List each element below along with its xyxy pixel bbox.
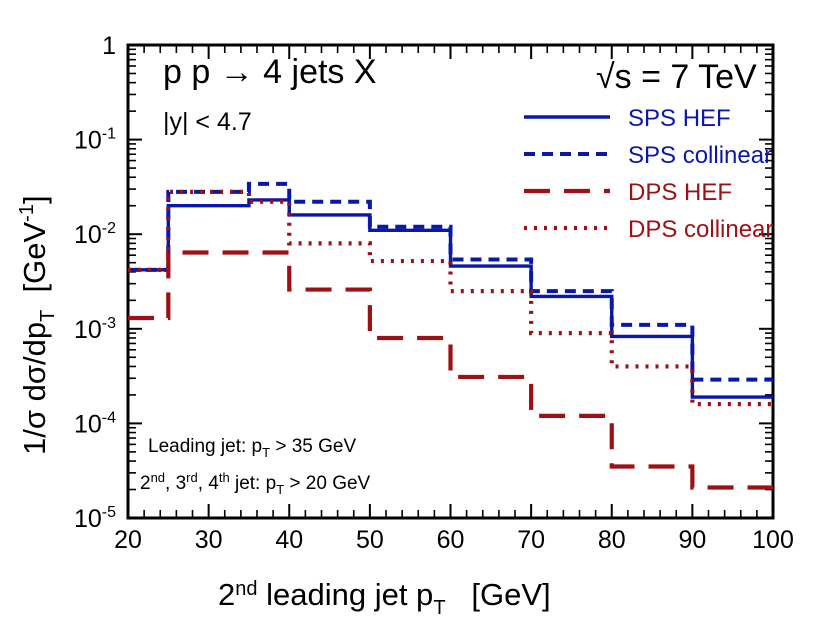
legend-label-dps-collinear: DPS collinear (628, 216, 773, 243)
process-title: p p → 4 jets X (163, 53, 377, 91)
x-tick-label: 90 (678, 526, 706, 554)
legend-label-sps-collinear: SPS collinear (628, 142, 772, 169)
x-tick-label: 70 (517, 526, 545, 554)
other-jets-cut-s3: th (219, 470, 230, 485)
x-tick-labels: 2030405060708090100 (114, 526, 794, 554)
x-tick-label: 40 (275, 526, 303, 554)
physics-plot: 2030405060708090100 110-110-210-310-410-… (0, 0, 830, 637)
other-jets-cut-s1: nd (151, 470, 165, 485)
legend-label-dps-hef: DPS HEF (628, 179, 732, 206)
x-tick-label: 50 (356, 526, 384, 554)
leading-jet-cut: Leading jet: pT > 35 GeV (148, 436, 356, 460)
x-axis-title-sup: nd (235, 578, 257, 600)
rapidity-cut-annotation: |y| < 4.7 (163, 108, 252, 136)
y-axis-title-unit-end: ] (17, 195, 52, 204)
legend-label-sps-hef: SPS HEF (628, 105, 731, 132)
other-jets-cut-p2: , 3 (165, 473, 186, 494)
other-jets-cut-p4: jet: p (230, 473, 276, 494)
figure-root: 2030405060708090100 110-110-210-310-410-… (0, 0, 830, 637)
y-tick-label: 1 (102, 32, 116, 60)
x-axis-title-pre: 2 (218, 577, 235, 612)
x-axis-title-mid: leading jet p (258, 577, 434, 612)
x-axis-title-unit: [GeV] (471, 577, 550, 612)
x-tick-label: 100 (752, 526, 794, 554)
other-jets-cut-tail: > 20 GeV (284, 473, 370, 494)
x-tick-label: 60 (437, 526, 465, 554)
energy-annotation: √s = 7 TeV (596, 58, 757, 96)
x-axis-title-sub: T (433, 597, 445, 619)
leading-jet-cut-rest: > 35 GeV (270, 436, 356, 457)
x-tick-label: 30 (195, 526, 223, 554)
y-axis-title-main: 1/σ dσ/dp (17, 322, 52, 455)
svg-text:1: 1 (102, 32, 116, 60)
leading-jet-cut-pre: Leading jet: p (148, 436, 262, 457)
other-jets-cut-p3: , 4 (198, 473, 220, 494)
other-jets-cut-sub: T (276, 482, 284, 497)
y-axis-title-unit: [GeV (17, 222, 52, 293)
energy-label: √s = 7 TeV (596, 58, 757, 96)
x-tick-label: 20 (114, 526, 142, 554)
other-jets-cut-p1: 2 (140, 473, 151, 494)
leading-jet-cut-sub: T (262, 445, 270, 460)
y-axis-title-sub: T (37, 310, 59, 322)
x-tick-label: 80 (598, 526, 626, 554)
y-axis-title-unit-sup: -1 (16, 204, 38, 222)
other-jets-cut-s2: rd (186, 470, 198, 485)
other-jets-cut: 2nd, 3rd, 4th jet: pT > 20 GeV (140, 470, 371, 497)
